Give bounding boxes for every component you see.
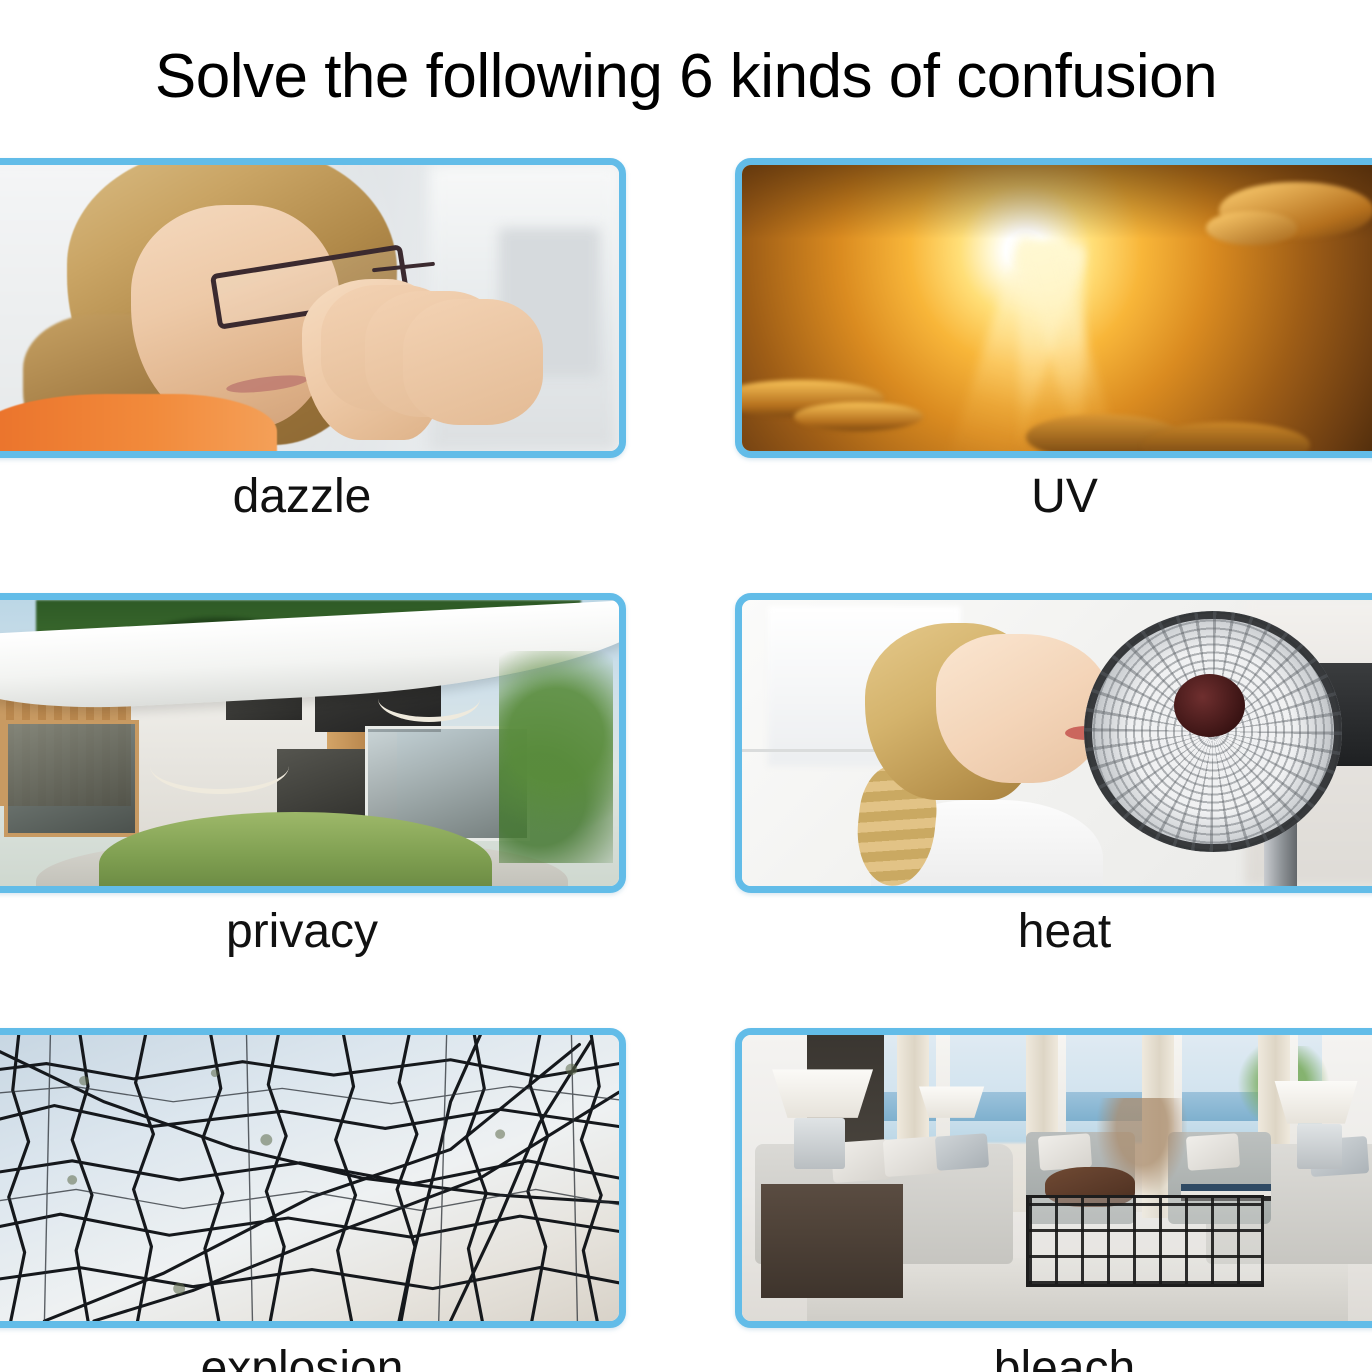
- heat-photo-illustration: [742, 600, 1372, 886]
- uv-cloud: [1206, 211, 1296, 245]
- feature-cell-uv: UV: [735, 158, 1372, 458]
- bleach-console-table: [761, 1184, 903, 1298]
- feature-grid: dazzle: [0, 158, 1372, 1372]
- privacy-tree: [499, 651, 613, 863]
- bleach-pillow: [1186, 1133, 1240, 1171]
- bleach-pillow: [883, 1136, 943, 1177]
- dazzle-finger: [403, 299, 542, 425]
- image-card-heat[interactable]: [735, 593, 1372, 893]
- feature-cell-explosion: explosion: [0, 1028, 626, 1328]
- image-card-privacy[interactable]: [0, 593, 626, 893]
- image-card-uv[interactable]: [735, 158, 1372, 458]
- image-card-dazzle[interactable]: [0, 158, 626, 458]
- bleach-lamp-base: [794, 1118, 846, 1169]
- feature-cell-privacy: privacy: [0, 593, 626, 893]
- caption-explosion: explosion: [0, 1340, 700, 1372]
- heat-face: [936, 634, 1110, 783]
- image-card-explosion[interactable]: [0, 1028, 626, 1328]
- bleach-grid-coffee-table: [1026, 1195, 1264, 1287]
- feature-row-2: privacy: [0, 593, 1372, 1028]
- uv-photo-illustration: [742, 165, 1372, 451]
- dazzle-orange-shirt: [0, 394, 277, 451]
- feature-row-1: dazzle: [0, 158, 1372, 593]
- page-title: Solve the following 6 kinds of confusion: [0, 38, 1372, 116]
- bleach-lamp-base: [1297, 1124, 1342, 1170]
- caption-dazzle: dazzle: [0, 468, 700, 526]
- bleach-pillow: [1038, 1133, 1092, 1171]
- feature-row-3: explosion: [0, 1028, 1372, 1372]
- image-uv: [742, 165, 1372, 451]
- heat-fan-hub: [1174, 674, 1245, 737]
- feature-cell-heat: heat: [735, 593, 1372, 893]
- bleach-pillow: [934, 1133, 988, 1171]
- uv-cloud: [794, 402, 923, 431]
- image-card-bleach[interactable]: [735, 1028, 1372, 1328]
- caption-uv: UV: [735, 468, 1372, 526]
- shattered-glass-cracks: [0, 1035, 619, 1321]
- image-dazzle: [0, 165, 619, 451]
- caption-privacy: privacy: [0, 903, 700, 961]
- explosion-photo-illustration: [0, 1035, 619, 1321]
- bleach-photo-illustration: [742, 1035, 1372, 1321]
- feature-cell-dazzle: dazzle: [0, 158, 626, 458]
- caption-bleach: bleach: [735, 1340, 1372, 1372]
- caption-heat: heat: [735, 903, 1372, 961]
- image-privacy: [0, 600, 619, 886]
- image-heat: [742, 600, 1372, 886]
- privacy-photo-illustration: [0, 600, 619, 886]
- dazzle-photo-illustration: [0, 165, 619, 451]
- image-bleach: [742, 1035, 1372, 1321]
- privacy-glass-door: [4, 720, 139, 837]
- image-explosion: [0, 1035, 619, 1321]
- feature-cell-bleach: bleach: [735, 1028, 1372, 1328]
- product-feature-page: Solve the following 6 kinds of confusion: [0, 0, 1372, 1372]
